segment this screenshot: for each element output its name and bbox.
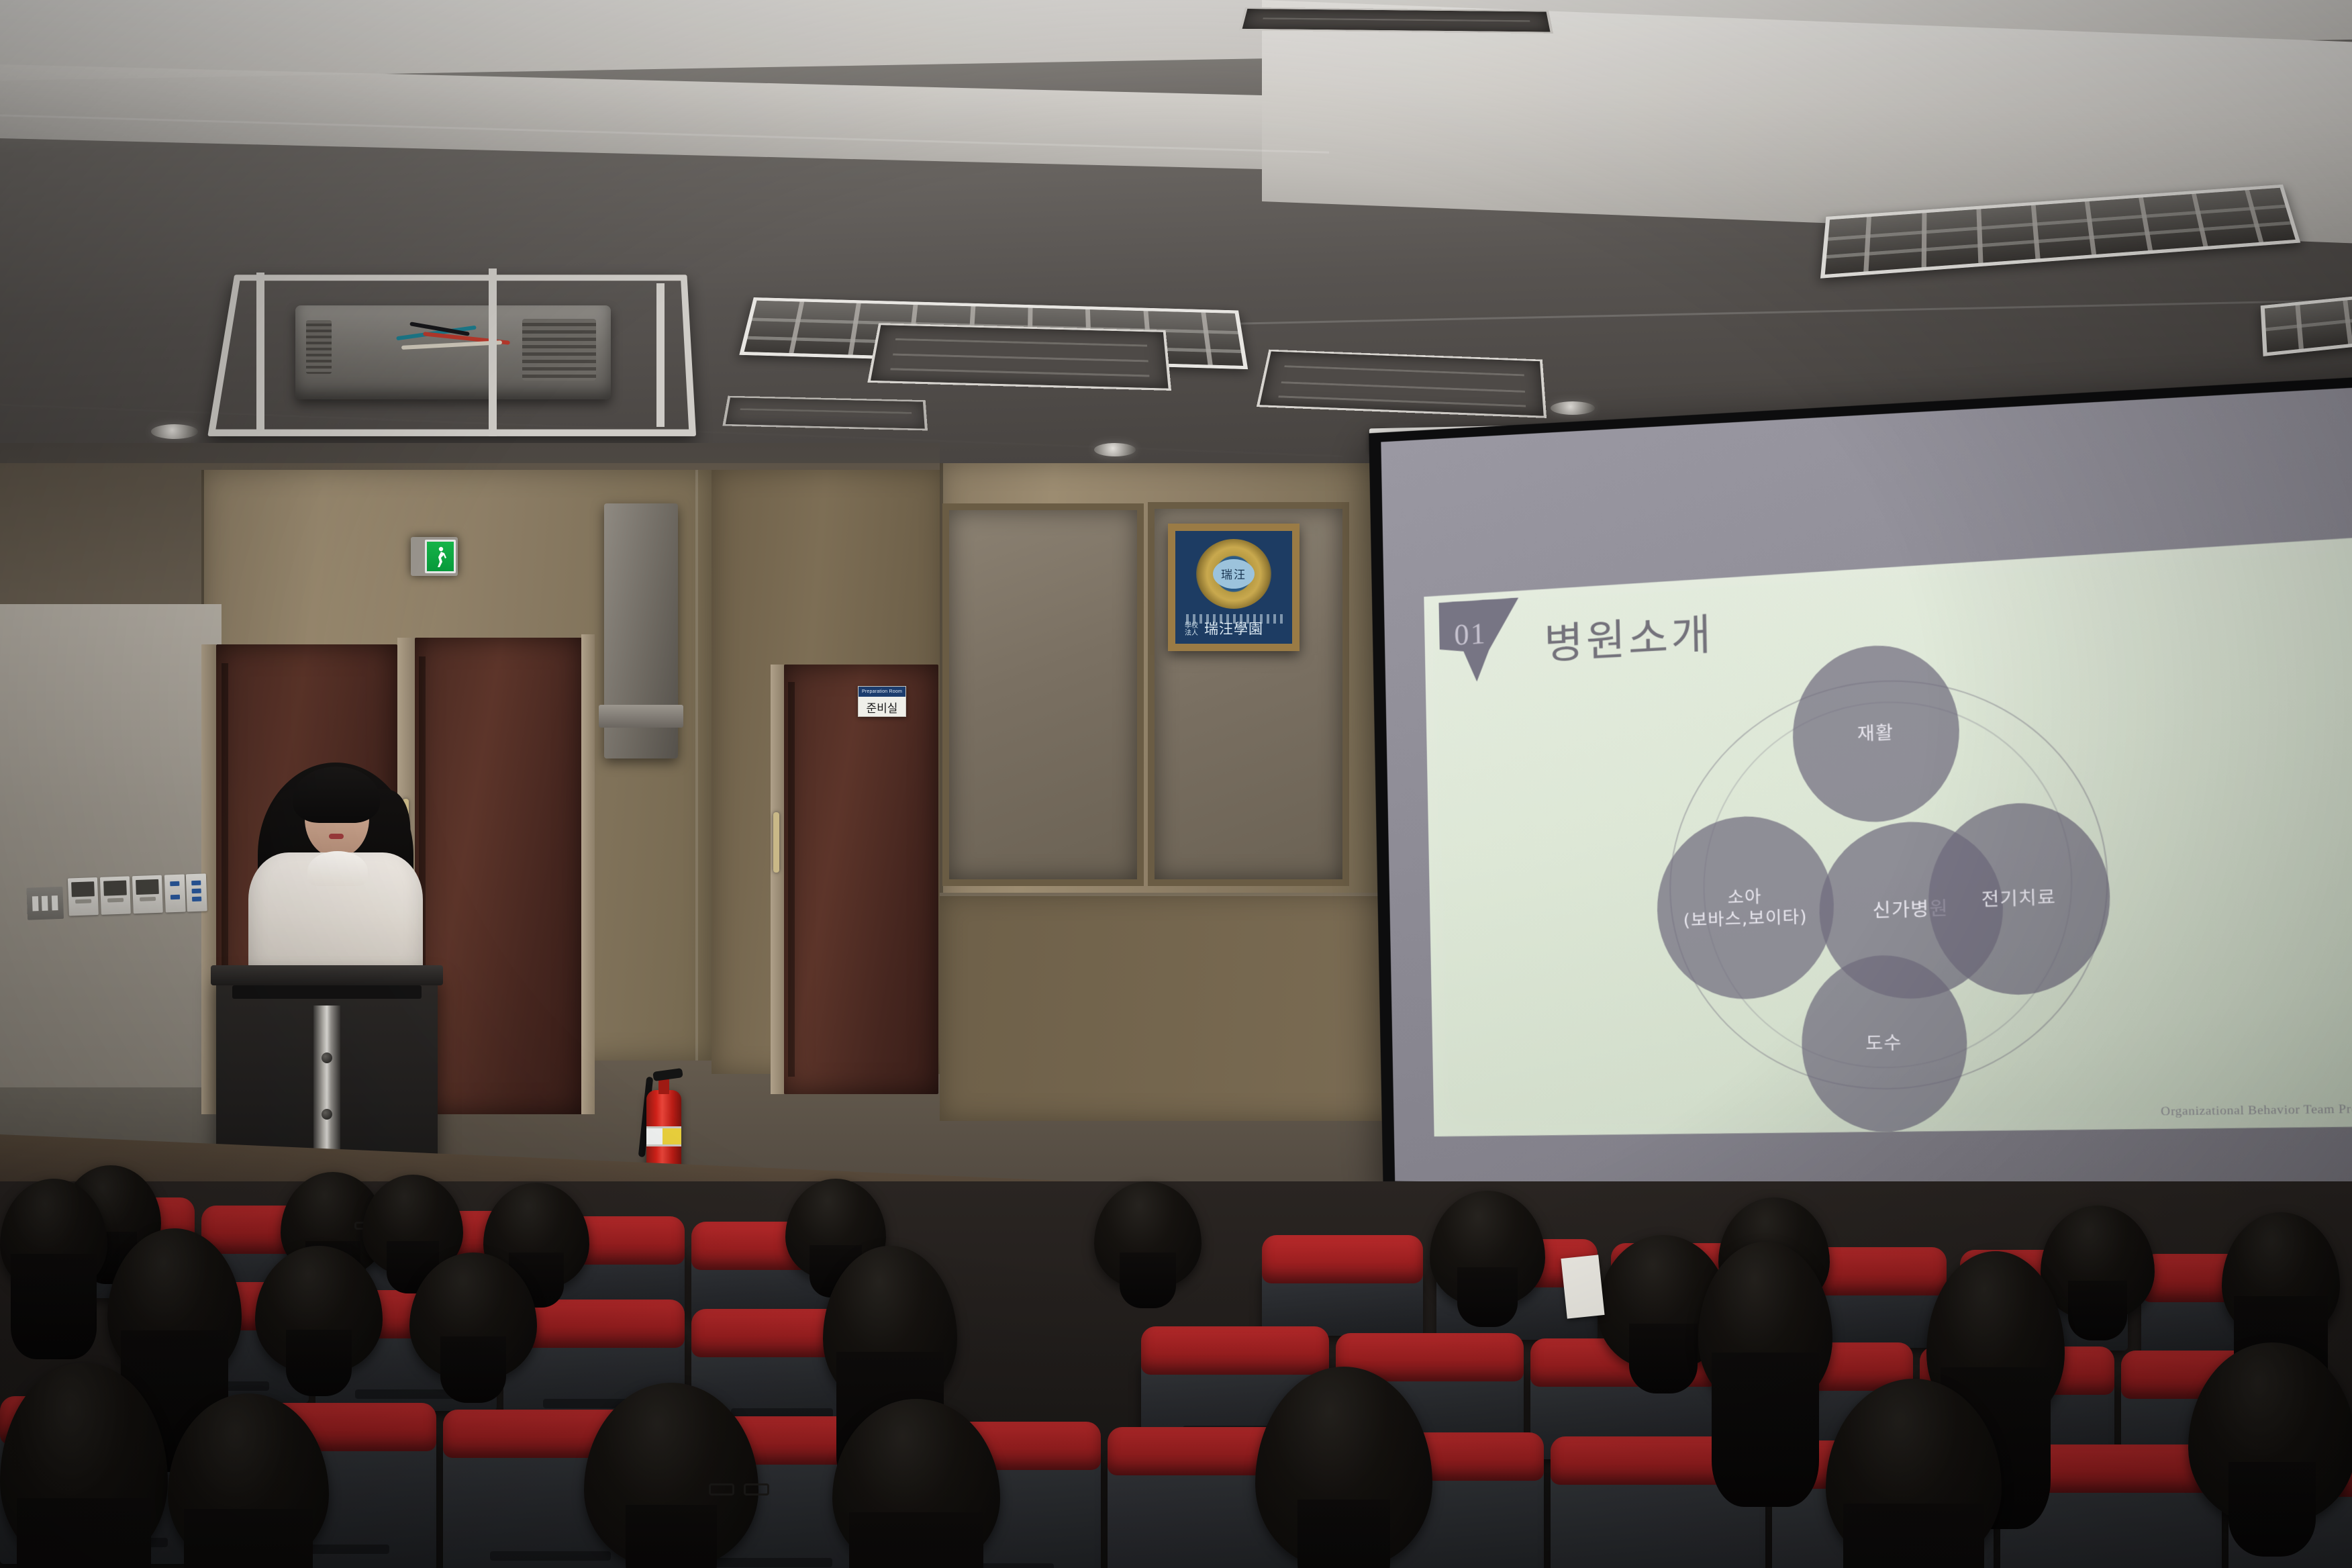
- air-diffuser: [1239, 7, 1553, 34]
- presenter: [235, 758, 436, 980]
- recessed-downlight: [1551, 401, 1595, 415]
- audience-head: [255, 1246, 383, 1373]
- audience-head: [2222, 1212, 2340, 1340]
- wall-mounted-speaker: [604, 503, 678, 758]
- plaque-emblem-text: 瑞汪: [1213, 559, 1255, 589]
- air-diffuser: [1257, 350, 1547, 418]
- seat[interactable]: [1262, 1235, 1423, 1336]
- projected-slide: 01 병원소개 재활 소아 (보바스,보이타): [1424, 536, 2352, 1136]
- preparation-room-door[interactable]: [784, 665, 938, 1094]
- audience-head: [2188, 1342, 2352, 1524]
- projector-security-cage: [207, 275, 696, 436]
- slide-footer: Organizational Behavior Team Project: [2161, 1101, 2352, 1119]
- air-diffuser: [722, 396, 928, 431]
- switch-plate-4[interactable]: [164, 874, 186, 912]
- diagram-node-bottom-label: 도수: [1865, 1032, 1902, 1055]
- door-sign-korean: 준비실: [859, 697, 905, 717]
- audience-head: [0, 1363, 168, 1568]
- wall-switch-panel[interactable]: [26, 864, 209, 932]
- auditorium-presentation-scene: 瑞汪 學校 法人 瑞汪學園 Preparation Room 준비실: [0, 0, 2352, 1568]
- ceiling-projector-assembly: [222, 268, 691, 436]
- audience-head: [1255, 1367, 1432, 1568]
- door-sign-english: Preparation Room: [859, 687, 905, 697]
- handout-paper: [1561, 1255, 1604, 1318]
- bulletin-board: [942, 503, 1144, 886]
- audience-head: [823, 1246, 957, 1407]
- speaker-bracket: [599, 705, 683, 728]
- diagram-node-right-label: 전기치료: [1981, 886, 2056, 912]
- presenter-collar: [307, 851, 368, 886]
- cage-post: [656, 283, 665, 427]
- door-jamb: [581, 634, 595, 1114]
- school-emblem-plaque: 瑞汪 學校 法人 瑞汪學園: [1168, 524, 1300, 651]
- podium-stud: [322, 1052, 332, 1063]
- cage-post: [256, 273, 264, 431]
- door-sign-preparation-room: Preparation Room 준비실: [858, 686, 906, 717]
- podium-stud: [322, 1109, 332, 1120]
- plaque-bottom-text: 瑞汪學園: [1175, 618, 1292, 638]
- extinguisher-handle: [652, 1068, 683, 1081]
- screen-surface: 01 병원소개 재활 소아 (보바스,보이타): [1381, 384, 2352, 1199]
- diagram-node-top-label: 재활: [1857, 722, 1894, 746]
- audience-head: [0, 1179, 107, 1293]
- exit-icon: [425, 540, 456, 573]
- audience-head: [832, 1399, 1000, 1568]
- projection-screen: 01 병원소개 재활 소아 (보바스,보이타): [1369, 373, 2352, 1211]
- recessed-downlight: [151, 424, 198, 439]
- slide-diagram: 재활 소아 (보바스,보이타) 신가병원 전기치료: [1637, 645, 2159, 1121]
- control-panel-2[interactable]: [100, 876, 131, 915]
- audience-head: [107, 1228, 242, 1383]
- entrance-door-right[interactable]: [415, 638, 583, 1114]
- running-person-icon: [435, 546, 447, 569]
- cage-post: [489, 268, 497, 436]
- audience-head: [1094, 1181, 1202, 1289]
- audience-head: [1430, 1191, 1545, 1306]
- audience-head: [409, 1253, 537, 1380]
- emergency-exit-sign: [411, 537, 458, 576]
- door-jamb: [771, 665, 784, 1094]
- audience-head: [1826, 1379, 2002, 1568]
- presenter-lips: [329, 834, 344, 839]
- door-handle[interactable]: [773, 812, 779, 873]
- light-switch-metal[interactable]: [26, 887, 64, 920]
- control-panel-3[interactable]: [132, 875, 163, 914]
- audience-head: [584, 1383, 758, 1568]
- audience-seating: [0, 1141, 2352, 1568]
- audience-head: [1698, 1242, 1832, 1410]
- slide-title: 병원소개: [1543, 599, 1714, 671]
- switch-plate-5[interactable]: [186, 873, 207, 912]
- audience-head: [168, 1393, 329, 1568]
- recessed-downlight: [1094, 443, 1136, 456]
- podium-top: [211, 965, 443, 985]
- left-wall-plaster: [0, 604, 222, 1114]
- control-panel-1[interactable]: [68, 877, 99, 916]
- air-diffuser: [867, 323, 1171, 391]
- podium-shelf: [232, 985, 422, 999]
- slide-section-number: 01: [1454, 616, 1487, 652]
- diagram-node-left-label-2: (보바스,보이타): [1683, 905, 1808, 931]
- projection-screen-assembly: 01 병원소개 재활 소아 (보바스,보이타): [1376, 433, 2352, 1191]
